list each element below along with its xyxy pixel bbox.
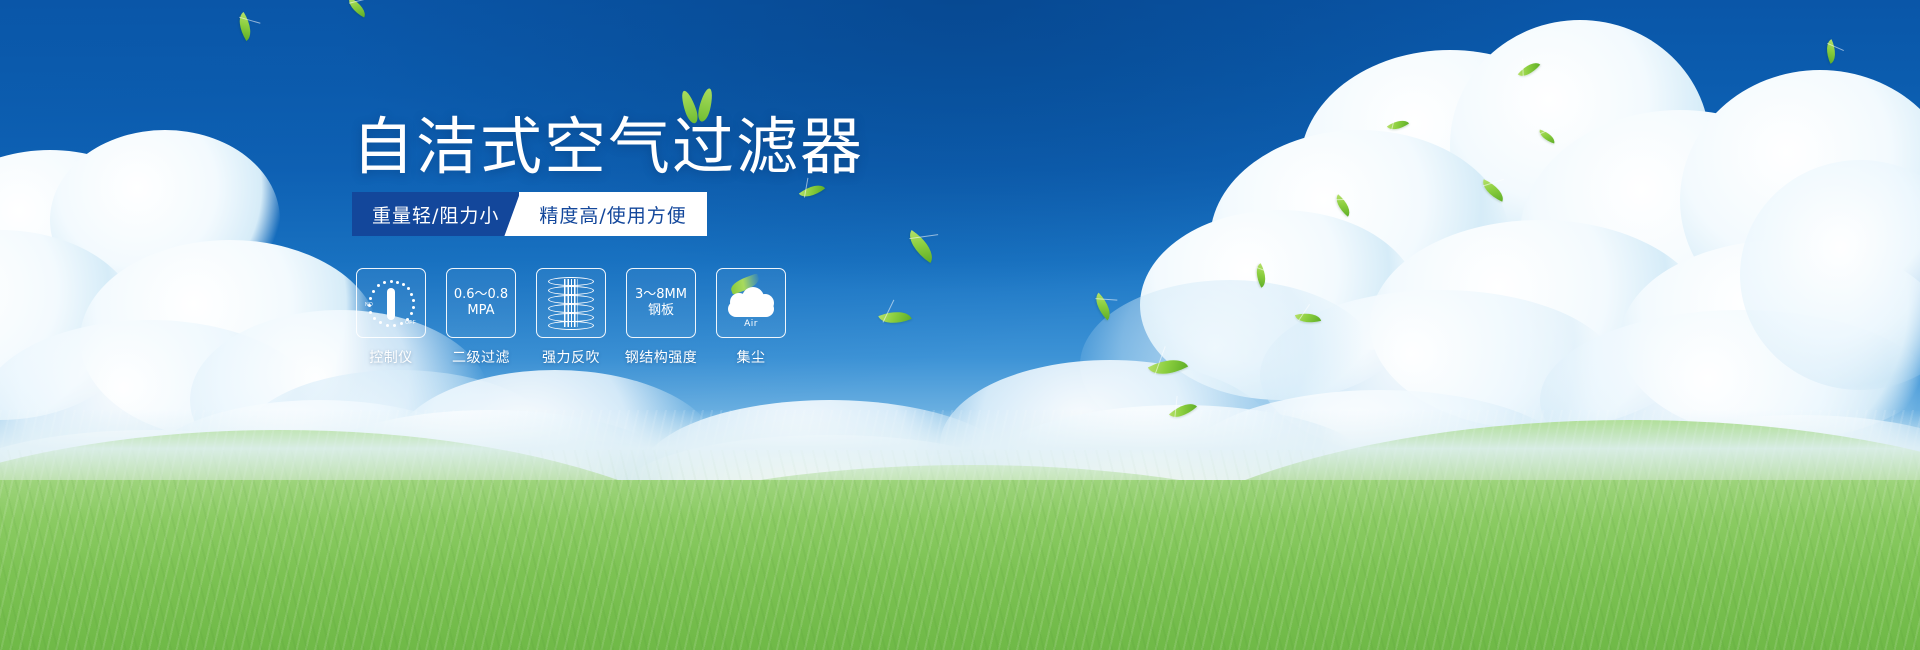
feature-steel-strength[interactable]: 3～8MM 钢板 钢结构强度 bbox=[626, 268, 696, 367]
tag-weight-resistance[interactable]: 重量轻/阻力小 bbox=[352, 192, 519, 236]
cloud-air-icon: Air bbox=[724, 279, 778, 327]
feature-strong-backblow[interactable]: 强力反吹 bbox=[536, 268, 606, 367]
tag-label: 重量轻/阻力小 bbox=[372, 201, 499, 228]
steel-plate-icon: 3～8MM 钢板 bbox=[635, 287, 687, 320]
tag-label: 精度高/使用方便 bbox=[539, 201, 686, 228]
feature-icon-row: NO OFF 控制仪 0.6～0.8 MPA 二级过滤 bbox=[356, 268, 786, 367]
air-label: Air bbox=[724, 319, 778, 329]
feature-controller[interactable]: NO OFF 控制仪 bbox=[356, 268, 426, 367]
page-title: 自洁式空气过滤器 bbox=[352, 116, 864, 178]
product-banner: 自洁式空气过滤器 重量轻/阻力小 精度高/使用方便 bbox=[0, 0, 1920, 650]
dial-switch-icon: NO OFF bbox=[364, 276, 418, 330]
coil-spring-icon bbox=[548, 277, 594, 329]
feature-box: 0.6～0.8 MPA bbox=[446, 268, 516, 338]
feature-dust-collection[interactable]: Air 集尘 bbox=[716, 268, 786, 367]
tag-precision-convenience[interactable]: 精度高/使用方便 bbox=[519, 192, 706, 236]
feature-box: NO OFF bbox=[356, 268, 426, 338]
pressure-value-icon: 0.6～0.8 MPA bbox=[454, 287, 508, 320]
feature-label: 钢结构强度 bbox=[625, 347, 698, 367]
feature-box bbox=[536, 268, 606, 338]
feature-tag-row: 重量轻/阻力小 精度高/使用方便 bbox=[352, 192, 707, 236]
feature-label: 集尘 bbox=[737, 347, 766, 367]
dial-label-off: OFF bbox=[405, 320, 416, 326]
dial-label-no: NO bbox=[365, 302, 373, 308]
feature-box: Air bbox=[716, 268, 786, 338]
feature-box: 3～8MM 钢板 bbox=[626, 268, 696, 338]
feature-label: 强力反吹 bbox=[542, 347, 600, 367]
feature-label: 二级过滤 bbox=[452, 347, 510, 367]
feature-two-stage-filter[interactable]: 0.6～0.8 MPA 二级过滤 bbox=[446, 268, 516, 367]
feature-label: 控制仪 bbox=[369, 347, 413, 367]
banner-content: 自洁式空气过滤器 重量轻/阻力小 精度高/使用方便 bbox=[0, 0, 1920, 650]
